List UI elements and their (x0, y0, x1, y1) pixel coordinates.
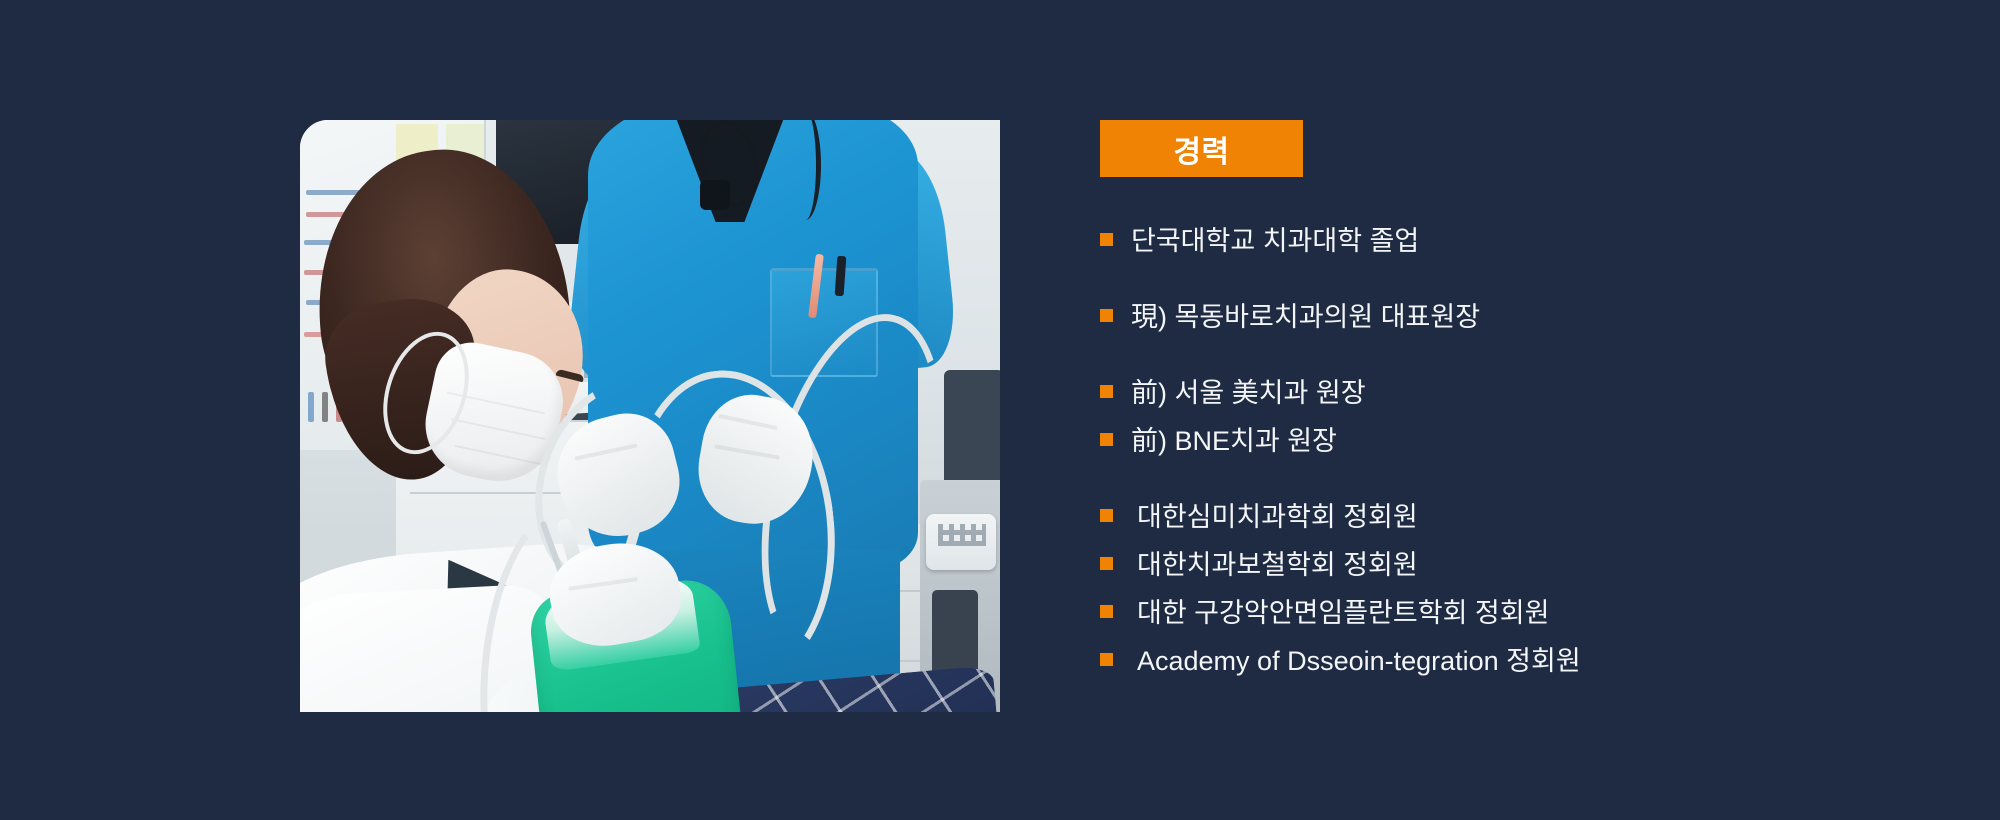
square-bullet-icon (1100, 385, 1113, 398)
career-group-education: 단국대학교 치과대학 졸업 (1100, 221, 1920, 261)
list-item-label: 前) BNE치과 원장 (1131, 421, 1337, 461)
square-bullet-icon (1100, 557, 1113, 570)
list-item-label: 대한심미치과학회 정회원 (1137, 497, 1418, 537)
marker-pen (308, 392, 314, 422)
list-item: 前) 서울 美치과 원장 (1100, 373, 1920, 413)
square-bullet-icon (1100, 233, 1113, 246)
square-bullet-icon (1100, 309, 1113, 322)
career-group-current: 現) 목동바로치과의원 대표원장 (1100, 297, 1920, 337)
clinic-photo-scene (300, 120, 1000, 712)
list-item-label: 前) 서울 美치과 원장 (1131, 373, 1366, 413)
square-bullet-icon (1100, 433, 1113, 446)
square-bullet-icon (1100, 653, 1113, 666)
square-bullet-icon (1100, 605, 1113, 618)
list-item: 대한심미치과학회 정회원 (1100, 497, 1920, 537)
list-item-label: 단국대학교 치과대학 졸업 (1131, 221, 1419, 261)
loupe-battery-pack (700, 180, 730, 210)
whiteboard-writing (306, 212, 346, 217)
list-item-label: 대한 구강악안면임플란트학회 정회원 (1137, 593, 1549, 633)
career-groups: 단국대학교 치과대학 졸업 現) 목동바로치과의원 대표원장 前) 서울 美치과… (1100, 221, 1920, 681)
list-item: 대한 구강악안면임플란트학회 정회원 (1100, 593, 1920, 633)
list-item: 단국대학교 치과대학 졸업 (1100, 221, 1920, 261)
list-item-label: Academy of Dsseoin-tegration 정회원 (1137, 641, 1581, 681)
list-item: Academy of Dsseoin-tegration 정회원 (1100, 641, 1920, 681)
career-group-previous: 前) 서울 美치과 원장 前) BNE치과 원장 (1100, 373, 1920, 461)
list-item-label: 現) 목동바로치과의원 대표원장 (1131, 297, 1480, 337)
list-item-label: 대한치과보철학회 정회원 (1137, 545, 1418, 585)
list-item: 대한치과보철학회 정회원 (1100, 545, 1920, 585)
list-item: 前) BNE치과 원장 (1100, 421, 1920, 461)
section-badge-career: 경력 (1100, 120, 1303, 177)
dental-unit-keypad (938, 524, 986, 546)
list-item: 現) 목동바로치과의원 대표원장 (1100, 297, 1920, 337)
marker-pen (322, 392, 328, 422)
slide-canvas: 경력 단국대학교 치과대학 졸업 現) 목동바로치과의원 대표원장 前) 서울 … (0, 0, 2000, 820)
career-group-memberships: 대한심미치과학회 정회원 대한치과보철학회 정회원 대한 구강악안면임플란트학회… (1100, 497, 1920, 681)
clinic-photo (300, 120, 1000, 712)
career-panel: 경력 단국대학교 치과대학 졸업 現) 목동바로치과의원 대표원장 前) 서울 … (1100, 120, 1920, 681)
square-bullet-icon (1100, 509, 1113, 522)
dental-unit-column (944, 370, 1000, 490)
